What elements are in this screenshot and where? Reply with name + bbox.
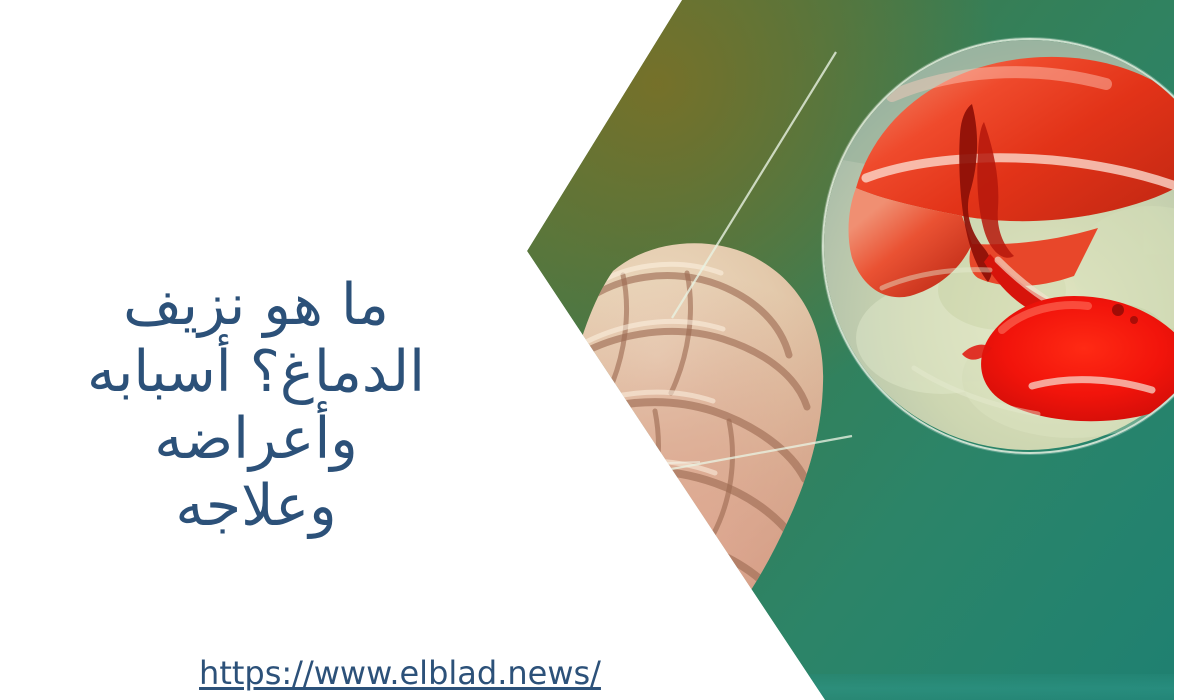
headline-block: ما هو نزيف الدماغ؟ أسبابه وأعراضه وعلاجه [0, 272, 512, 540]
site-url-link[interactable]: https://www.elblad.news/ [199, 654, 601, 692]
callout-line-brain-icon [520, 462, 700, 468]
headline-line-4: وعلاجه [0, 473, 512, 540]
callout-line-upper-icon [672, 52, 836, 318]
site-url-block: https://www.elblad.news/ [0, 653, 800, 693]
thumbnail-card: ما هو نزيف الدماغ؟ أسبابه وأعراضه وعلاجه… [0, 0, 1200, 700]
headline-line-3: وأعراضه [0, 406, 512, 473]
callout-line-lower-icon [666, 436, 852, 470]
headline-line-1: ما هو نزيف [0, 272, 512, 339]
headline-line-2: الدماغ؟ أسبابه [0, 339, 512, 406]
